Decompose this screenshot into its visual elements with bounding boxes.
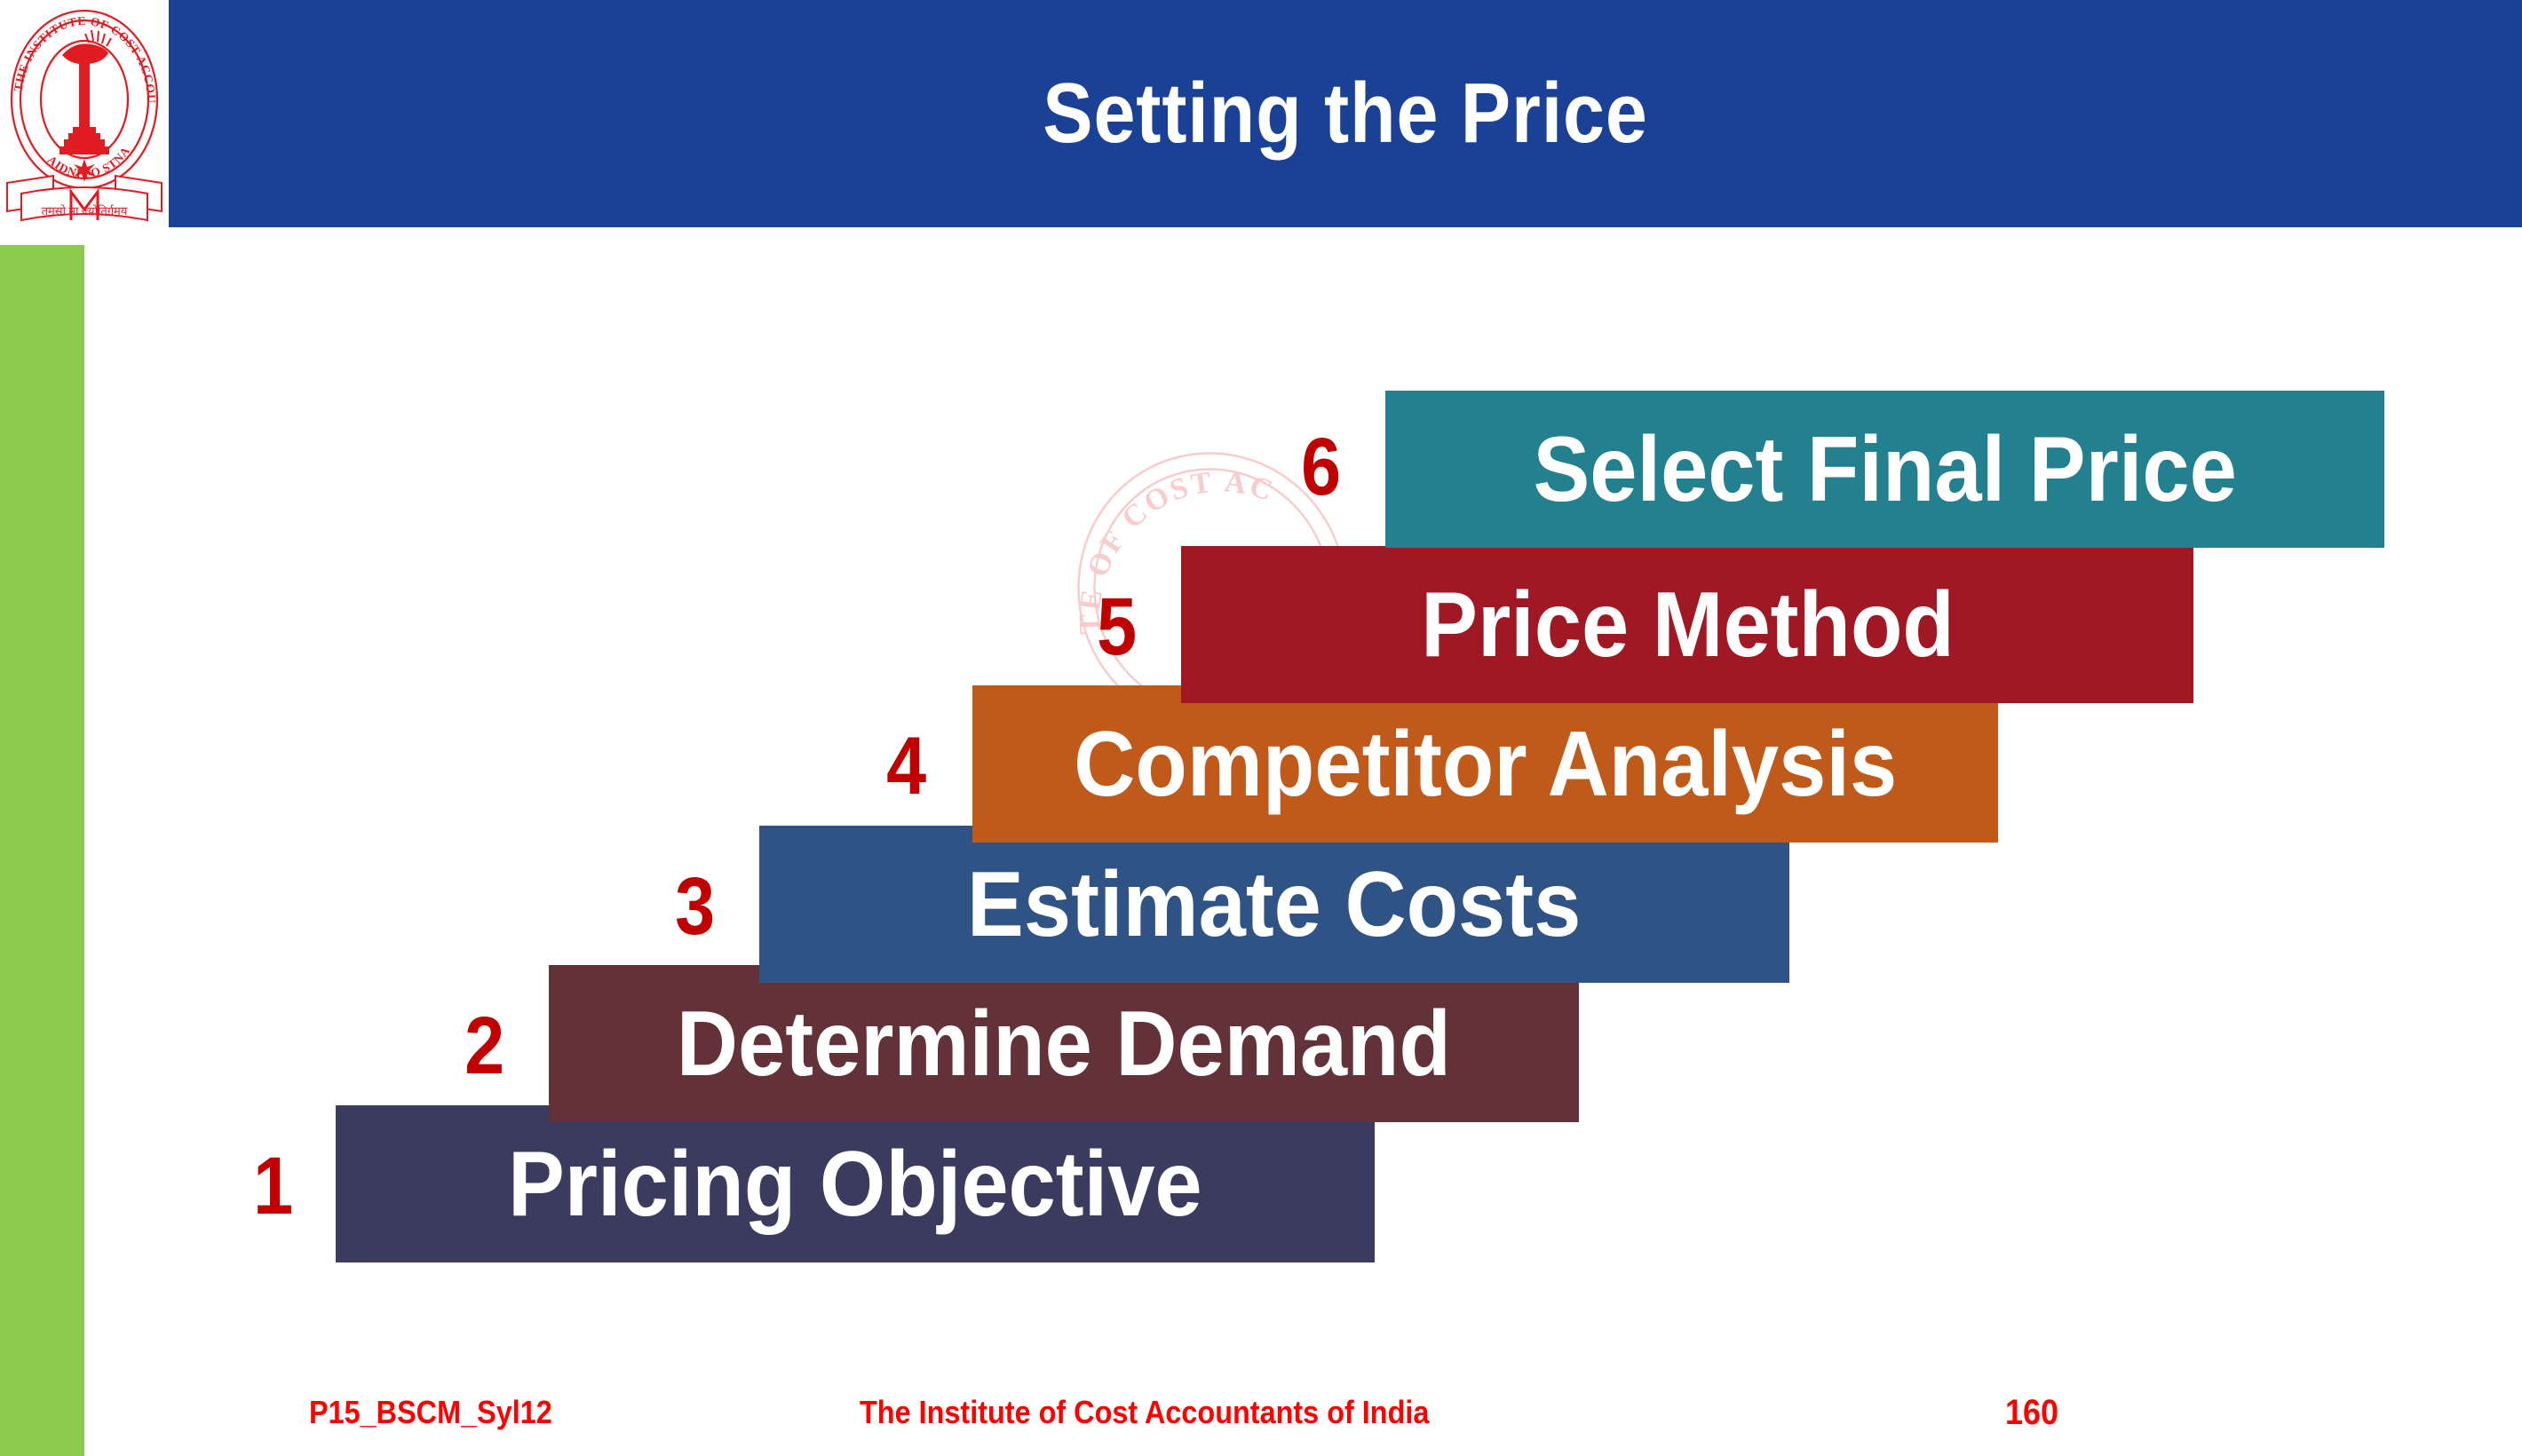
step-bar-1[interactable]: Pricing Objective xyxy=(336,1105,1375,1262)
step-number-1: 1 xyxy=(253,1145,293,1227)
footer-subject-code: P15_BSCM_Syl12 xyxy=(309,1394,552,1431)
step-label-2: Determine Demand xyxy=(677,998,1451,1090)
footer-organization: The Institute of Cost Accountants of Ind… xyxy=(860,1394,1429,1431)
step-number-3: 3 xyxy=(675,866,715,947)
step-bar-2[interactable]: Determine Demand xyxy=(549,965,1579,1122)
pricing-steps-staircase: Pricing Objective 1 Determine Demand 2 E… xyxy=(0,0,2522,1456)
step-bar-3[interactable]: Estimate Costs xyxy=(759,826,1789,983)
step-label-5: Price Method xyxy=(1421,579,1955,671)
step-bar-4[interactable]: Competitor Analysis xyxy=(972,685,1998,843)
slide-footer: P15_BSCM_Syl12 The Institute of Cost Acc… xyxy=(0,1358,2522,1456)
step-bar-6[interactable]: Select Final Price xyxy=(1385,391,2384,548)
footer-page-number: 160 xyxy=(2005,1393,2058,1433)
step-label-3: Estimate Costs xyxy=(967,859,1581,951)
step-bar-5[interactable]: Price Method xyxy=(1181,546,2193,703)
step-number-2: 2 xyxy=(464,1005,504,1087)
step-label-6: Select Final Price xyxy=(1533,423,2236,516)
step-label-4: Competitor Analysis xyxy=(1074,718,1897,811)
step-number-4: 4 xyxy=(886,725,926,807)
step-label-1: Pricing Objective xyxy=(508,1138,1202,1230)
step-number-6: 6 xyxy=(1301,426,1341,508)
step-number-5: 5 xyxy=(1097,586,1137,668)
